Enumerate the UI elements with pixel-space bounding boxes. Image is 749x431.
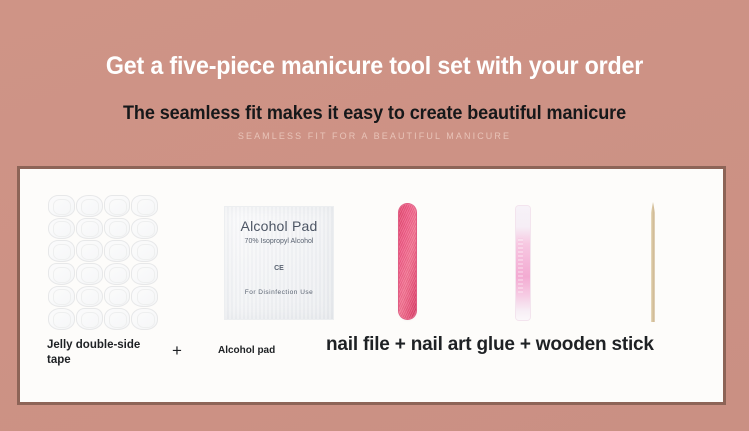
caption-row: Jelly double-side tape + Alcohol pad nai…: [20, 324, 723, 402]
glue-tube-icon: [516, 206, 530, 320]
caption-remaining-tools: nail file + nail art glue + wooden stick: [326, 334, 654, 356]
micro-caption: SEAMLESS FIT FOR A BEAUTIFUL MANICURE: [0, 131, 749, 141]
jelly-tape-sheet-icon: [48, 195, 158, 330]
alcohol-pad-subtitle: 70% Isopropyl Alcohol: [245, 238, 314, 245]
wooden-stick-icon: [651, 202, 655, 322]
alcohol-pad-title: Alcohol Pad: [241, 218, 318, 234]
sub-headline: The seamless fit makes it easy to create…: [19, 103, 731, 125]
product-panel: Alcohol Pad 70% Isopropyl Alcohol CE For…: [17, 166, 726, 405]
nail-file-icon: [399, 204, 416, 319]
caption-alcohol-pad: Alcohol pad: [218, 345, 275, 356]
ce-mark-icon: CE: [274, 265, 284, 272]
alcohol-pad-footer: For Disinfection Use: [245, 289, 314, 296]
caption-plus-separator: +: [172, 341, 182, 361]
promo-banner: Get a five-piece manicure tool set with …: [0, 0, 749, 431]
alcohol-pad-sachet-icon: Alcohol Pad 70% Isopropyl Alcohol CE For…: [224, 206, 334, 320]
caption-jelly-tape: Jelly double-side tape: [47, 338, 165, 368]
page-title: Get a five-piece manicure tool set with …: [26, 52, 723, 81]
